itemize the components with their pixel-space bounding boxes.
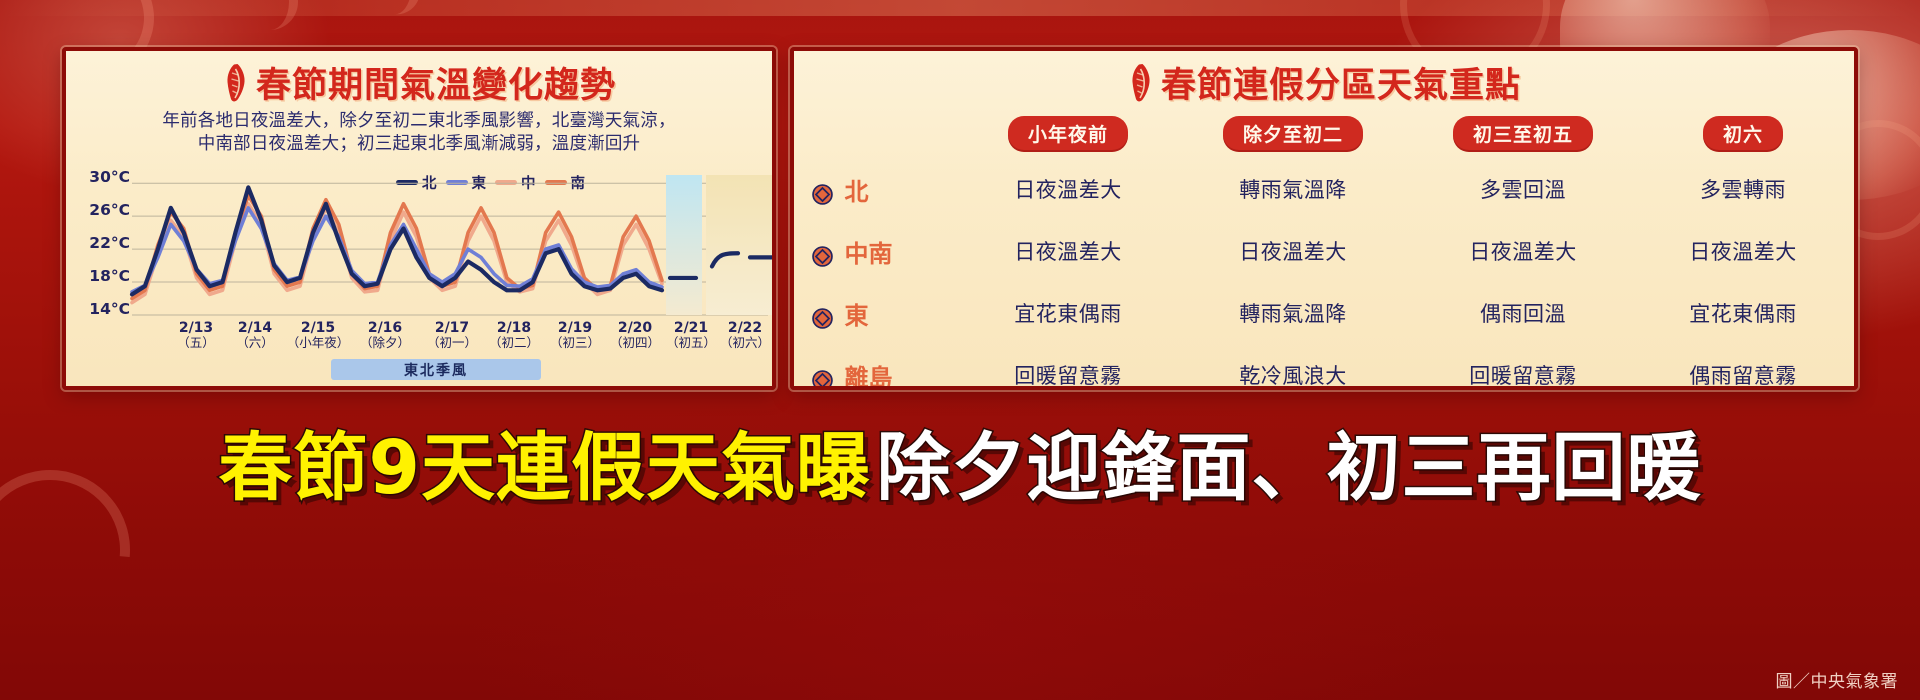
diamond-marker-icon [812, 246, 833, 267]
x-axis-tick-0: 2/13 （五） [164, 320, 228, 350]
table-cell: 日夜溫差大 [1638, 220, 1848, 282]
region-label: 東 [844, 302, 868, 330]
x-tick-date: 2/13 [164, 320, 228, 336]
table-cell: 多雲回溫 [1408, 158, 1638, 220]
region-label: 中南 [844, 240, 892, 268]
table-cell-region: 中南 [808, 220, 958, 282]
table-cell: 多雲轉雨 [1638, 158, 1848, 220]
left-panel-header: 春節期間氣溫變化趨勢 [66, 51, 772, 108]
table-cell-region: 北 [808, 158, 958, 220]
table-row: 中南 日夜溫差大 日夜溫差大 日夜溫差大 日夜溫差大 [808, 220, 1848, 282]
taiwan-island-icon [222, 63, 248, 103]
table-cell: 回暖留意霧 [1408, 344, 1638, 390]
region-label: 北 [844, 178, 868, 206]
table-cell: 日夜溫差大 [958, 158, 1178, 220]
table-cell: 轉雨氣溫降 [1178, 158, 1408, 220]
table-cell: 日夜溫差大 [1178, 220, 1408, 282]
table-cell: 宜花東偶雨 [958, 282, 1178, 344]
table-header-row: 小年夜前 除夕至初二 初三至初五 初六 [808, 116, 1848, 158]
x-axis-tick-2: 2/15 （小年夜） [279, 320, 357, 350]
x-axis-tick-9: 2/22 （初六） [709, 320, 776, 350]
image-credit: 圖／中央氣象署 [1776, 667, 1899, 692]
table-cell: 偶雨回溫 [1408, 282, 1638, 344]
table-header-period-2: 除夕至初二 [1178, 116, 1408, 158]
x-tick-date: 2/16 [349, 320, 421, 336]
table-row: 東 宜花東偶雨 轉雨氣溫降 偶雨回溫 宜花東偶雨 [808, 282, 1848, 344]
regional-weather-table: 小年夜前 除夕至初二 初三至初五 初六 [808, 116, 1848, 390]
table-cell-region: 東 [808, 282, 958, 344]
x-axis-tick-3: 2/16 （除夕） [349, 320, 421, 350]
period-pill-1: 小年夜前 [1008, 116, 1128, 152]
table-header-period-3: 初三至初五 [1408, 116, 1638, 158]
x-tick-date: 2/14 [223, 320, 287, 336]
northeast-monsoon-bar: 東北季風 [331, 359, 541, 380]
headline-part-white: 除夕迎鋒面、初三再回暖 [877, 425, 1702, 511]
subtitle-line-2: 中南部日夜溫差大；初三起東北季風漸減弱，溫度漸回升 [66, 133, 772, 156]
table-header-region [808, 116, 958, 158]
infographic-canvas: 春節期間氣溫變化趨勢 年前各地日夜溫差大，除夕至初二東北季風影響，北臺灣天氣涼，… [0, 0, 1920, 700]
x-axis-tick-1: 2/14 （六） [223, 320, 287, 350]
x-tick-day: （五） [164, 336, 228, 350]
x-tick-date: 2/22 [709, 320, 776, 336]
period-pill-4: 初六 [1703, 116, 1783, 152]
table-cell: 宜花東偶雨 [1638, 282, 1848, 344]
temperature-chart: 30°C 26°C 22°C 18°C 14°C 北 東 中 [66, 160, 772, 386]
table-row: 北 日夜溫差大 轉雨氣溫降 多雲回溫 多雲轉雨 [808, 158, 1848, 220]
taiwan-island-icon [1127, 63, 1153, 103]
cloud-decoration-1 [168, 0, 298, 30]
table-cell: 偶雨留意霧 [1638, 344, 1848, 390]
right-panel-title: 春節連假分區天氣重點 [1161, 57, 1521, 108]
x-tick-day: （除夕） [349, 336, 421, 350]
table-header-period-1: 小年夜前 [958, 116, 1178, 158]
table-header-period-4: 初六 [1638, 116, 1848, 158]
regional-weather-table-wrap: 小年夜前 除夕至初二 初三至初五 初六 [794, 116, 1854, 390]
headline-part-yellow: 春節9天連假天氣曝 [218, 425, 871, 511]
diamond-marker-icon [812, 184, 833, 205]
chart-plot-area [66, 160, 776, 386]
table-cell: 轉雨氣溫降 [1178, 282, 1408, 344]
table-cell: 日夜溫差大 [958, 220, 1178, 282]
period-pill-3: 初三至初五 [1453, 116, 1593, 152]
x-tick-day: （初六） [709, 336, 776, 350]
temperature-trend-panel: 春節期間氣溫變化趨勢 年前各地日夜溫差大，除夕至初二東北季風影響，北臺灣天氣涼，… [62, 47, 776, 390]
left-panel-title: 春節期間氣溫變化趨勢 [256, 57, 616, 108]
x-tick-day: （六） [223, 336, 287, 350]
left-panel-subtitle: 年前各地日夜溫差大，除夕至初二東北季風影響，北臺灣天氣涼， 中南部日夜溫差大；初… [66, 110, 772, 156]
right-panel-header: 春節連假分區天氣重點 [794, 51, 1854, 108]
table-cell: 日夜溫差大 [1408, 220, 1638, 282]
subtitle-line-1: 年前各地日夜溫差大，除夕至初二東北季風影響，北臺灣天氣涼， [66, 110, 772, 133]
table-cell-region: 離島 [808, 344, 958, 390]
diamond-marker-icon [812, 370, 833, 391]
regional-weather-panel: 春節連假分區天氣重點 小年夜前 [790, 47, 1858, 390]
region-label: 離島 [844, 364, 892, 391]
table-cell: 乾冷風浪大 [1178, 344, 1408, 390]
table-row: 離島 回暖留意霧 乾冷風浪大 回暖留意霧 偶雨留意霧 [808, 344, 1848, 390]
period-pill-2: 除夕至初二 [1223, 116, 1363, 152]
headline: 春節9天連假天氣曝 除夕迎鋒面、初三再回暖 [0, 408, 1920, 515]
table-cell: 回暖留意霧 [958, 344, 1178, 390]
x-tick-date: 2/15 [279, 320, 357, 336]
x-tick-day: （小年夜） [279, 336, 357, 350]
diamond-marker-icon [812, 308, 833, 329]
